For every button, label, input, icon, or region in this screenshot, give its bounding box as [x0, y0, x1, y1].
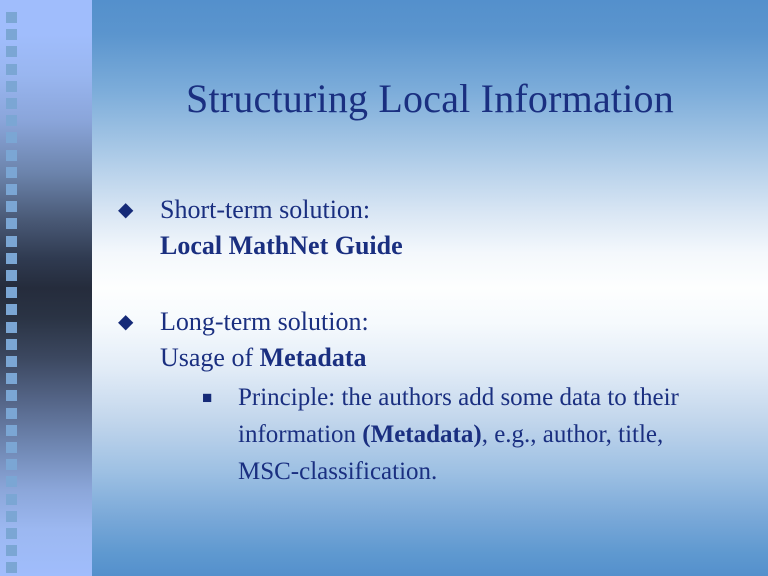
sidebar-square-marker [6, 201, 17, 212]
sidebar-square-marker [6, 167, 17, 178]
sidebar-square-strip [6, 0, 18, 576]
bullet-text-emphasis: (Metadata) [362, 421, 481, 448]
bullet-text-emphasis: Metadata [260, 343, 367, 372]
sidebar-square-marker [6, 115, 17, 126]
bullet-text-line: Long-term solution: [160, 304, 758, 340]
slide-decorative-sidebar [0, 0, 92, 576]
sidebar-square-marker [6, 322, 17, 333]
sidebar-square-marker [6, 81, 17, 92]
bullet-text-line: Local MathNet Guide [160, 228, 758, 264]
bullet-item-level2: ■Principle: the authors add some data to… [202, 379, 758, 490]
bullet-text-line: Usage of Metadata [160, 340, 758, 376]
bullet-text-level1: Short-term solution:Local MathNet Guide [160, 192, 758, 264]
sidebar-square-marker [6, 425, 17, 436]
sidebar-square-marker [6, 408, 17, 419]
sidebar-square-marker [6, 270, 17, 281]
bullet-text-segment: Long-term solution: [160, 307, 369, 336]
sidebar-square-marker [6, 442, 17, 453]
sidebar-square-marker [6, 29, 17, 40]
sidebar-square-marker [6, 184, 17, 195]
square-bullet-icon: ■ [202, 379, 212, 416]
sidebar-square-marker [6, 12, 17, 23]
sidebar-square-marker [6, 356, 17, 367]
bullet-text-line: MSC-classification. [238, 453, 758, 490]
bullet-text-segment: information [238, 421, 362, 448]
sidebar-square-marker [6, 511, 17, 522]
diamond-bullet-icon: ◆ [118, 192, 138, 228]
sidebar-square-marker [6, 528, 17, 539]
sidebar-square-marker [6, 459, 17, 470]
bullet-item-level1: ◆Long-term solution:Usage of Metadata■Pr… [118, 304, 758, 490]
slide-body: ◆Short-term solution:Local MathNet Guide… [118, 192, 758, 490]
sidebar-square-marker [6, 373, 17, 384]
sidebar-square-marker [6, 339, 17, 350]
presentation-slide: Structuring Local Information ◆Short-ter… [0, 0, 768, 576]
sidebar-square-marker [6, 545, 17, 556]
sidebar-square-marker [6, 287, 17, 298]
sidebar-square-marker [6, 253, 17, 264]
sidebar-square-marker [6, 46, 17, 57]
bullet-sublist: ■Principle: the authors add some data to… [160, 379, 758, 490]
sidebar-square-marker [6, 150, 17, 161]
bullet-text-line: Short-term solution: [160, 192, 758, 228]
bullet-text-line: Principle: the authors add some data to … [238, 379, 758, 416]
bullet-text-level2: Principle: the authors add some data to … [238, 379, 758, 490]
bullet-item-level1: ◆Short-term solution:Local MathNet Guide [118, 192, 758, 264]
bullet-text-level1: Long-term solution:Usage of Metadata [160, 304, 758, 376]
bullet-text-segment: Usage of [160, 343, 260, 372]
sidebar-square-marker [6, 218, 17, 229]
bullet-text-line: information (Metadata), e.g., author, ti… [238, 416, 758, 453]
bullet-text-segment: , e.g., author, title, [482, 421, 664, 448]
diamond-bullet-icon: ◆ [118, 304, 138, 340]
bullet-text-segment: MSC-classification. [238, 458, 437, 485]
sidebar-square-marker [6, 562, 17, 573]
sidebar-square-marker [6, 64, 17, 75]
bullet-text-segment: Principle: the authors add some data to … [238, 384, 679, 411]
sidebar-square-marker [6, 390, 17, 401]
sidebar-square-marker [6, 132, 17, 143]
bullet-text-emphasis: Local MathNet Guide [160, 231, 403, 260]
bullet-text-segment: Short-term solution: [160, 195, 370, 224]
sidebar-square-marker [6, 304, 17, 315]
sidebar-square-marker [6, 98, 17, 109]
slide-title: Structuring Local Information [92, 76, 768, 122]
sidebar-square-marker [6, 476, 17, 487]
sidebar-square-marker [6, 494, 17, 505]
sidebar-square-marker [6, 236, 17, 247]
